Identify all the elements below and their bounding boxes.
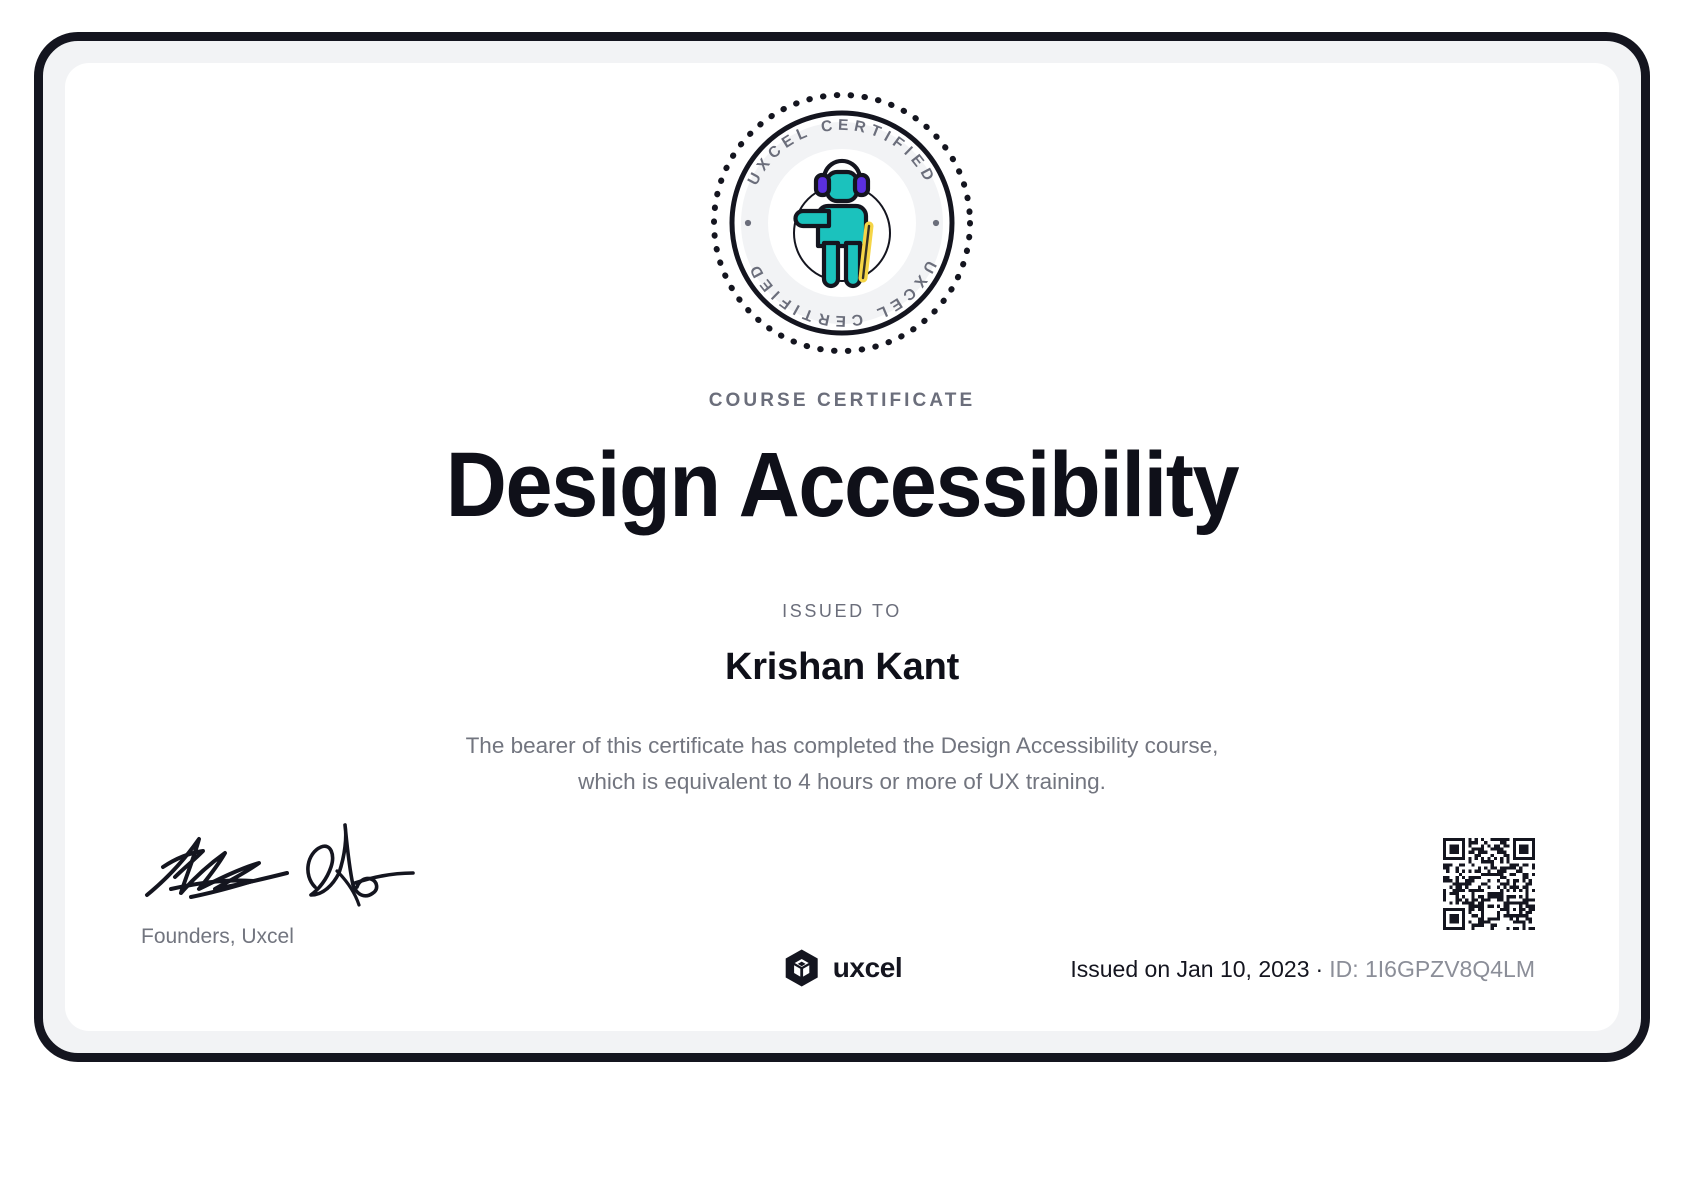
issued-to-label: ISSUED TO xyxy=(65,601,1619,622)
recipient-name: Krishan Kant xyxy=(65,646,1619,689)
meta-separator: · xyxy=(1310,956,1330,982)
course-title: Design Accessibility xyxy=(127,438,1557,534)
certificate-frame: UXCEL CERTIFIED UXCEL CERTIFIED xyxy=(34,32,1650,1062)
signature-caption: Founders, Uxcel xyxy=(141,925,471,949)
uxcel-brand-lockup: uxcel xyxy=(782,948,903,988)
verification-qr-code[interactable] xyxy=(1443,838,1535,930)
description-line-2: which is equivalent to 4 hours or more o… xyxy=(578,769,1106,794)
signature-block: Founders, Uxcel xyxy=(141,823,471,949)
certification-seal: UXCEL CERTIFIED UXCEL CERTIFIED xyxy=(706,87,978,359)
description-line-1: The bearer of this certificate has compl… xyxy=(466,733,1219,758)
uxcel-hexagon-cube-logo-icon xyxy=(782,948,822,988)
uxcel-wordmark: uxcel xyxy=(833,952,903,984)
certificate-page: UXCEL CERTIFIED UXCEL CERTIFIED xyxy=(65,63,1619,1031)
certificate-id: ID: 1I6GPZV8Q4LM xyxy=(1329,956,1535,982)
issue-date: Issued on Jan 10, 2023 xyxy=(1070,956,1309,982)
certificate-description: The bearer of this certificate has compl… xyxy=(412,728,1272,801)
certificate-meta: Issued on Jan 10, 2023·ID: 1I6GPZV8Q4LM xyxy=(1070,956,1535,983)
qr-code-graphic xyxy=(1443,838,1535,930)
certificate-kicker: COURSE CERTIFICATE xyxy=(65,390,1619,412)
handwritten-signature-icon xyxy=(141,823,431,911)
seal-graphic: UXCEL CERTIFIED UXCEL CERTIFIED xyxy=(706,87,978,359)
